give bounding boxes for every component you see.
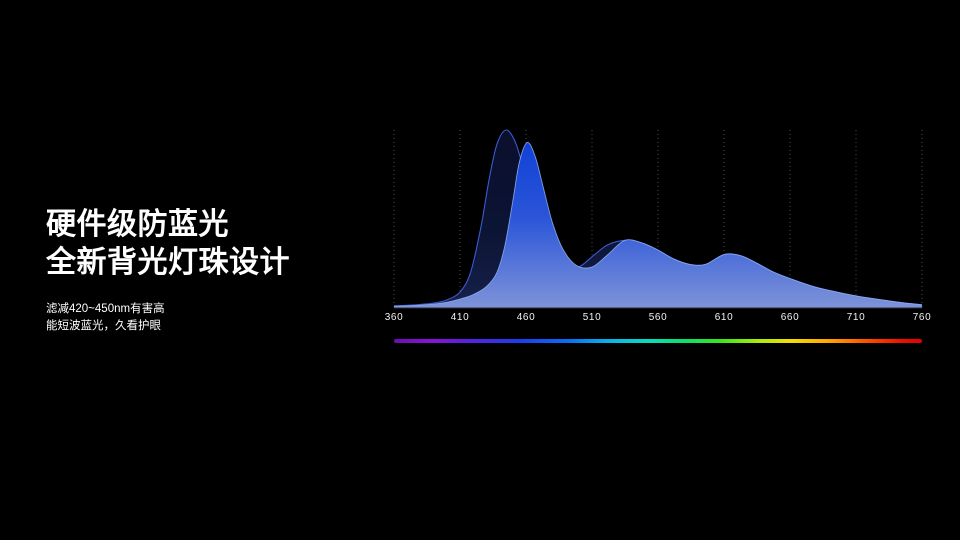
slide-root: 硬件级防蓝光 全新背光灯珠设计 滤减420~450nm有害高 能短波蓝光，久看护… — [0, 0, 960, 540]
subtitle-line-2: 能短波蓝光，久看护眼 — [46, 318, 376, 335]
x-axis-tick-710: 710 — [847, 312, 866, 323]
x-axis-tick-360: 360 — [385, 312, 404, 323]
x-axis-tick-410: 410 — [451, 312, 470, 323]
x-axis-tick-660: 660 — [781, 312, 800, 323]
subtitle-line-1: 滤减420~450nm有害高 — [46, 301, 376, 318]
headline-line-1: 硬件级防蓝光 — [46, 206, 376, 244]
copy-block: 硬件级防蓝光 全新背光灯珠设计 滤减420~450nm有害高 能短波蓝光，久看护… — [46, 206, 376, 335]
page-title: 硬件级防蓝光 全新背光灯珠设计 — [46, 206, 376, 282]
x-axis-tick-760: 760 — [913, 312, 932, 323]
headline-line-2: 全新背光灯珠设计 — [46, 244, 376, 282]
x-axis-tick-510: 510 — [583, 312, 602, 323]
chart-x-axis: 360410460510560610660710760 — [380, 312, 936, 328]
subtitle: 滤减420~450nm有害高 能短波蓝光，久看护眼 — [46, 301, 376, 335]
spectral-power-distribution-chart: 360410460510560610660710760 — [380, 120, 936, 356]
x-axis-tick-610: 610 — [715, 312, 734, 323]
x-axis-tick-560: 560 — [649, 312, 668, 323]
visible-light-spectrum-bar — [394, 339, 922, 343]
x-axis-tick-460: 460 — [517, 312, 536, 323]
chart-plot-svg — [380, 120, 936, 320]
